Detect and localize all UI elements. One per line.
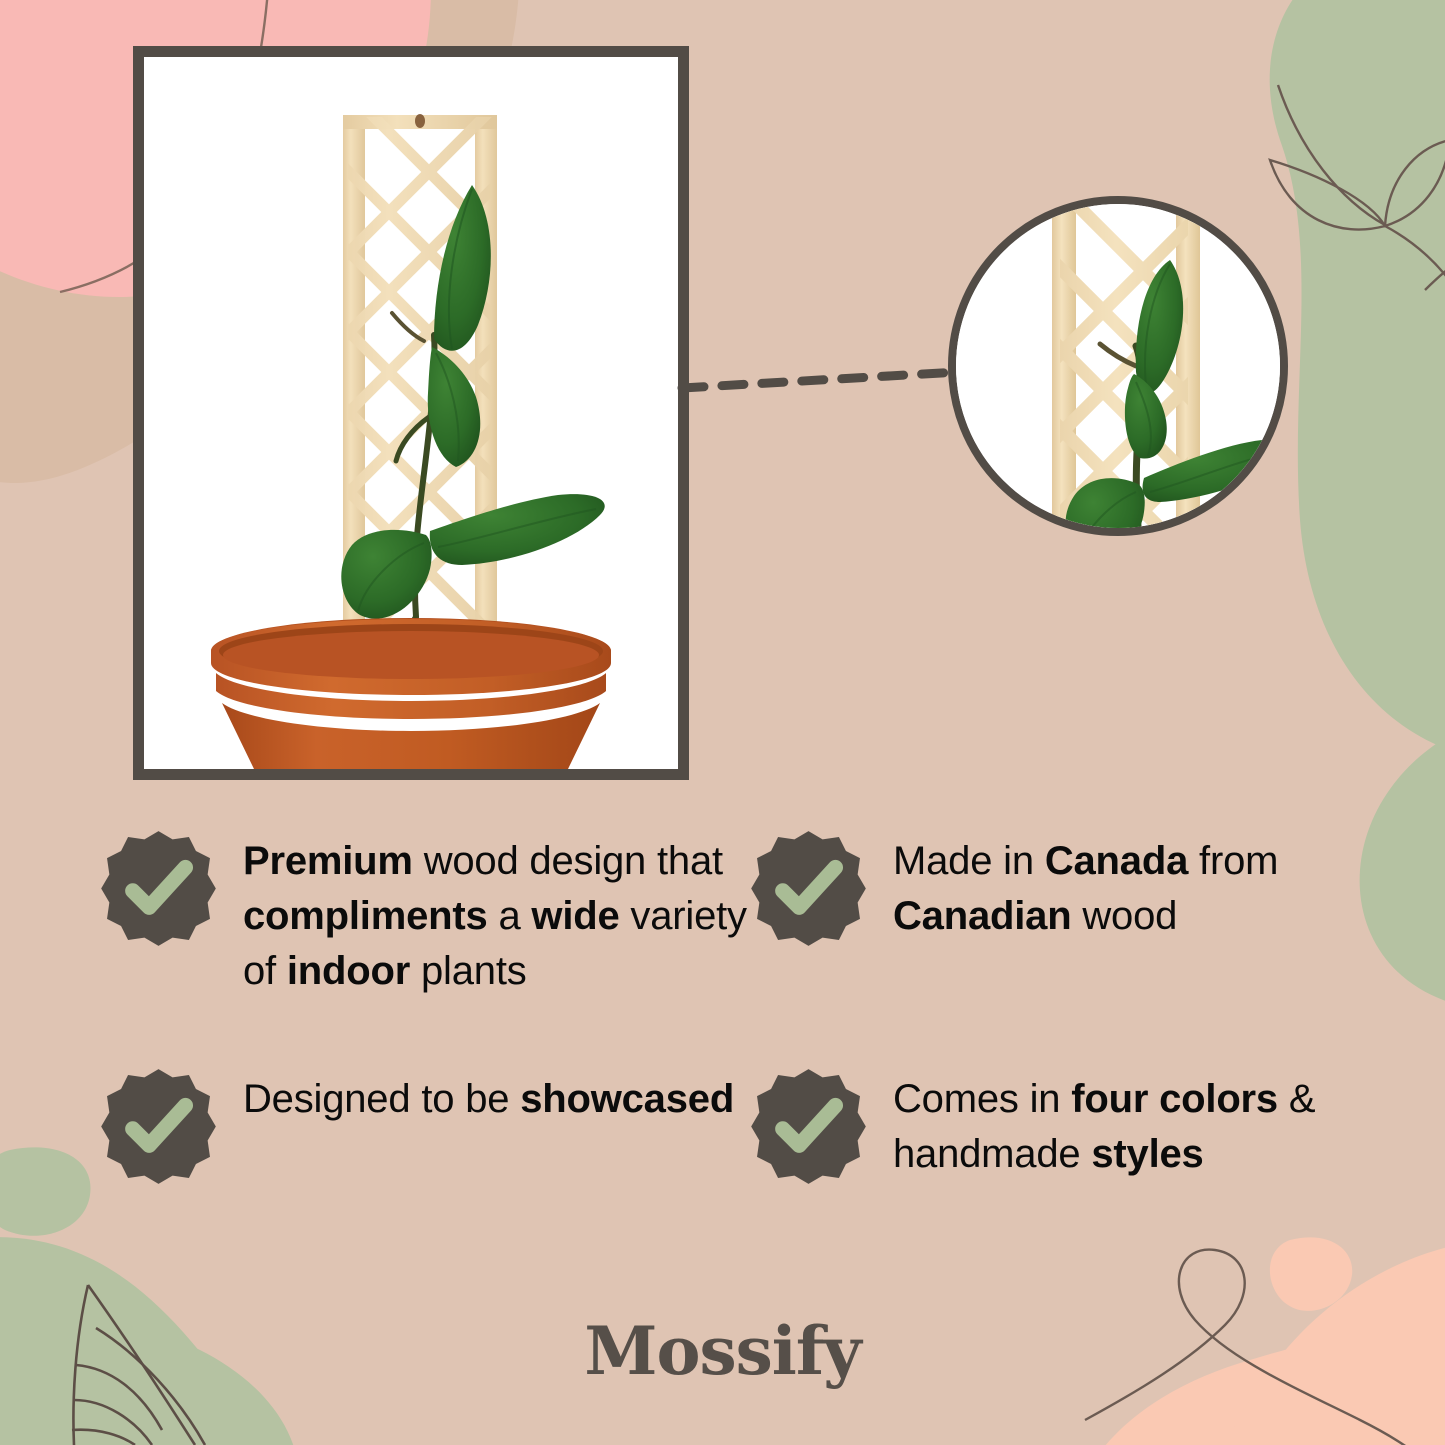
- check-badge-icon: [100, 830, 217, 947]
- magnifier-connector-line: [676, 348, 966, 418]
- feature-text: Made in Canada from Canadian wood: [893, 826, 1360, 944]
- magnifier-detail-circle: [948, 196, 1288, 536]
- magnifier-illustration: [948, 196, 1288, 536]
- brand-logo: Mossify: [0, 1312, 1445, 1390]
- product-photo-frame: [133, 46, 689, 780]
- feature-item: Comes in four colors & handmade styles: [750, 1064, 1360, 1185]
- line-art-sprig-top-right: [1270, 85, 1445, 340]
- feature-text: Premium wood design that compliments a w…: [243, 826, 750, 1000]
- blob-peach-small: [1270, 1237, 1352, 1311]
- check-badge-icon: [100, 1068, 217, 1185]
- feature-list: Premium wood design that compliments a w…: [100, 826, 1360, 1185]
- feature-item: Made in Canada from Canadian wood: [750, 826, 1360, 1000]
- product-photo-illustration: [144, 57, 678, 769]
- blob-sage-right-lower: [1360, 720, 1445, 1010]
- check-badge-icon: [750, 830, 867, 947]
- feature-item: Designed to be showcased: [100, 1064, 750, 1185]
- feature-text: Comes in four colors & handmade styles: [893, 1064, 1360, 1182]
- infographic-canvas: Premium wood design that compliments a w…: [0, 0, 1445, 1445]
- feature-text: Designed to be showcased: [243, 1064, 734, 1127]
- check-badge-icon: [750, 1068, 867, 1185]
- product-photo: [144, 57, 678, 769]
- blob-sage-right: [1270, 0, 1445, 760]
- blob-sage-pill: [0, 1147, 90, 1235]
- feature-item: Premium wood design that compliments a w…: [100, 826, 750, 1000]
